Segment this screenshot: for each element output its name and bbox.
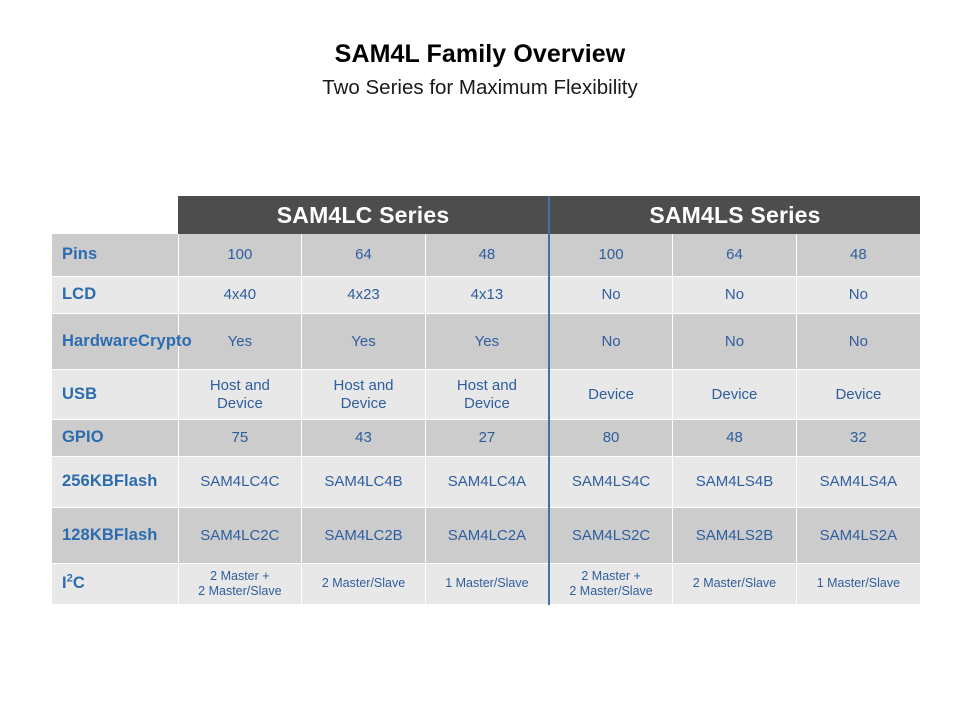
cell-i2c-col5: 2 Master/Slave <box>673 564 797 605</box>
cell-256kb-flash-col3: SAM4LC4A <box>425 457 549 508</box>
cell-lcd-col3: 4x13 <box>425 277 549 314</box>
header-corner-blank <box>52 196 178 234</box>
row-label-256kb-flash: 256KBFlash <box>52 457 178 508</box>
cell-usb-col1: Host andDevice <box>178 370 302 420</box>
group-header-sam4ls: SAM4LS Series <box>549 196 920 234</box>
row-label-gpio: GPIO <box>52 420 178 457</box>
cell-pins-col6: 48 <box>796 234 920 277</box>
row-label-usb: USB <box>52 370 178 420</box>
cell-i2c-col2: 2 Master/Slave <box>302 564 426 605</box>
cell-i2c-col1: 2 Master +2 Master/Slave <box>178 564 302 605</box>
cell-pins-col3: 48 <box>425 234 549 277</box>
group-header-sam4lc: SAM4LC Series <box>178 196 549 234</box>
table-row-lcd: LCD4x404x234x13NoNoNo <box>52 277 920 314</box>
table-row-hardware-crypto: HardwareCryptoYesYesYesNoNoNo <box>52 314 920 370</box>
cell-usb-col4: Device <box>549 370 673 420</box>
cell-i2c-col6: 1 Master/Slave <box>796 564 920 605</box>
cell-hardware-crypto-col2: Yes <box>302 314 426 370</box>
cell-usb-col6: Device <box>796 370 920 420</box>
spec-table-wrapper: SAM4LC Series SAM4LS Series Pins10064481… <box>52 196 920 605</box>
cell-pins-col2: 64 <box>302 234 426 277</box>
cell-gpio-col2: 43 <box>302 420 426 457</box>
row-label-lcd: LCD <box>52 277 178 314</box>
cell-lcd-col1: 4x40 <box>178 277 302 314</box>
table-row-256kb-flash: 256KBFlashSAM4LC4CSAM4LC4BSAM4LC4ASAM4LS… <box>52 457 920 508</box>
cell-lcd-col6: No <box>796 277 920 314</box>
cell-pins-col4: 100 <box>549 234 673 277</box>
cell-lcd-col2: 4x23 <box>302 277 426 314</box>
cell-256kb-flash-col6: SAM4LS4A <box>796 457 920 508</box>
group-header-row: SAM4LC Series SAM4LS Series <box>52 196 920 234</box>
cell-128kb-flash-col1: SAM4LC2C <box>178 508 302 564</box>
cell-hardware-crypto-col3: Yes <box>425 314 549 370</box>
row-label-i2c: I2C <box>52 564 178 605</box>
row-label-hardware-crypto: HardwareCrypto <box>52 314 178 370</box>
table-head: SAM4LC Series SAM4LS Series <box>52 196 920 234</box>
cell-128kb-flash-col5: SAM4LS2B <box>673 508 797 564</box>
cell-hardware-crypto-col1: Yes <box>178 314 302 370</box>
cell-128kb-flash-col2: SAM4LC2B <box>302 508 426 564</box>
table-row-gpio: GPIO754327804832 <box>52 420 920 457</box>
cell-128kb-flash-col4: SAM4LS2C <box>549 508 673 564</box>
cell-256kb-flash-col1: SAM4LC4C <box>178 457 302 508</box>
cell-128kb-flash-col3: SAM4LC2A <box>425 508 549 564</box>
cell-256kb-flash-col2: SAM4LC4B <box>302 457 426 508</box>
cell-gpio-col6: 32 <box>796 420 920 457</box>
title-block: SAM4L Family Overview Two Series for Max… <box>0 40 960 100</box>
cell-usb-col2: Host andDevice <box>302 370 426 420</box>
table-row-usb: USBHost andDeviceHost andDeviceHost andD… <box>52 370 920 420</box>
cell-i2c-col3: 1 Master/Slave <box>425 564 549 605</box>
cell-pins-col1: 100 <box>178 234 302 277</box>
table-body: Pins10064481006448LCD4x404x234x13NoNoNoH… <box>52 234 920 605</box>
cell-hardware-crypto-col6: No <box>796 314 920 370</box>
cell-lcd-col5: No <box>673 277 797 314</box>
cell-gpio-col4: 80 <box>549 420 673 457</box>
cell-256kb-flash-col5: SAM4LS4B <box>673 457 797 508</box>
cell-128kb-flash-col6: SAM4LS2A <box>796 508 920 564</box>
cell-gpio-col3: 27 <box>425 420 549 457</box>
cell-i2c-col4: 2 Master +2 Master/Slave <box>549 564 673 605</box>
cell-usb-col3: Host andDevice <box>425 370 549 420</box>
row-label-128kb-flash: 128KBFlash <box>52 508 178 564</box>
cell-usb-col5: Device <box>673 370 797 420</box>
cell-lcd-col4: No <box>549 277 673 314</box>
page-subtitle: Two Series for Maximum Flexibility <box>0 76 960 101</box>
family-overview-table: SAM4LC Series SAM4LS Series Pins10064481… <box>52 196 920 605</box>
table-row-pins: Pins10064481006448 <box>52 234 920 277</box>
cell-pins-col5: 64 <box>673 234 797 277</box>
table-row-128kb-flash: 128KBFlashSAM4LC2CSAM4LC2BSAM4LC2ASAM4LS… <box>52 508 920 564</box>
slide-canvas: SAM4L Family Overview Two Series for Max… <box>0 0 960 720</box>
cell-hardware-crypto-col4: No <box>549 314 673 370</box>
table-row-i2c: I2C2 Master +2 Master/Slave2 Master/Slav… <box>52 564 920 605</box>
cell-gpio-col1: 75 <box>178 420 302 457</box>
cell-gpio-col5: 48 <box>673 420 797 457</box>
cell-hardware-crypto-col5: No <box>673 314 797 370</box>
cell-256kb-flash-col4: SAM4LS4C <box>549 457 673 508</box>
row-label-pins: Pins <box>52 234 178 277</box>
page-title: SAM4L Family Overview <box>0 40 960 69</box>
